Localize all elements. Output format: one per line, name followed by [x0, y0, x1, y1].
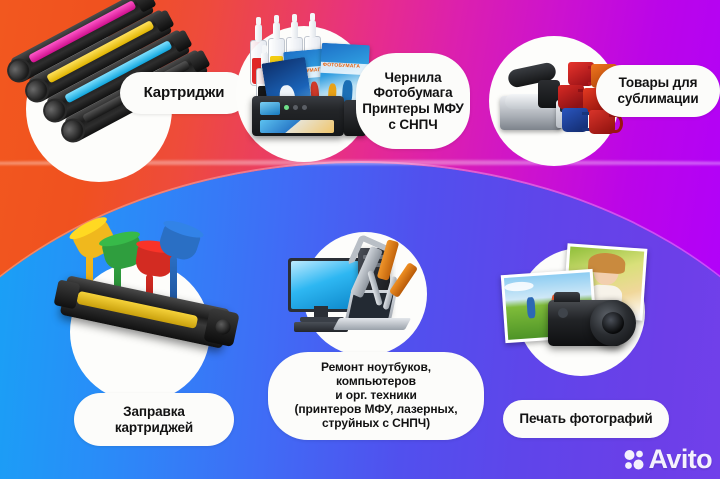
label-photo-printing: Печать фотографий	[503, 400, 669, 438]
label-sublimation-text: Товары для сублимации	[617, 75, 698, 106]
label-repair: Ремонт ноутбуков, компьютеров и орг. тех…	[268, 352, 484, 440]
label-cartridges-text: Картриджи	[144, 84, 225, 101]
label-ink-paper-printers-text: Чернила Фотобумага Принтеры МФУ с СНПЧ	[362, 70, 464, 133]
label-cartridge-refill-text: Заправка картриджей	[115, 404, 193, 435]
label-repair-text: Ремонт ноутбуков, компьютеров и орг. тех…	[295, 361, 458, 431]
label-cartridge-refill: Заправка картриджей	[74, 393, 234, 446]
avito-dots-icon	[623, 449, 645, 471]
label-ink-paper-printers: Чернила Фотобумага Принтеры МФУ с СНПЧ	[356, 53, 470, 149]
laptop-base	[333, 318, 411, 330]
dslr-camera-lens	[590, 300, 636, 346]
avito-watermark-text: Avito	[649, 446, 713, 473]
promo-poster: Картриджи ФОТОБУМАГА ФОТОБУМАГА	[0, 0, 720, 479]
mug-red-2	[558, 85, 584, 109]
mug-blue	[562, 108, 588, 132]
label-photo-printing-text: Печать фотографий	[519, 411, 652, 427]
label-sublimation: Товары для сублимации	[596, 65, 720, 117]
printer-body	[252, 96, 344, 136]
avito-watermark: Avito	[623, 446, 713, 473]
label-cartridges: Картриджи	[120, 72, 248, 114]
